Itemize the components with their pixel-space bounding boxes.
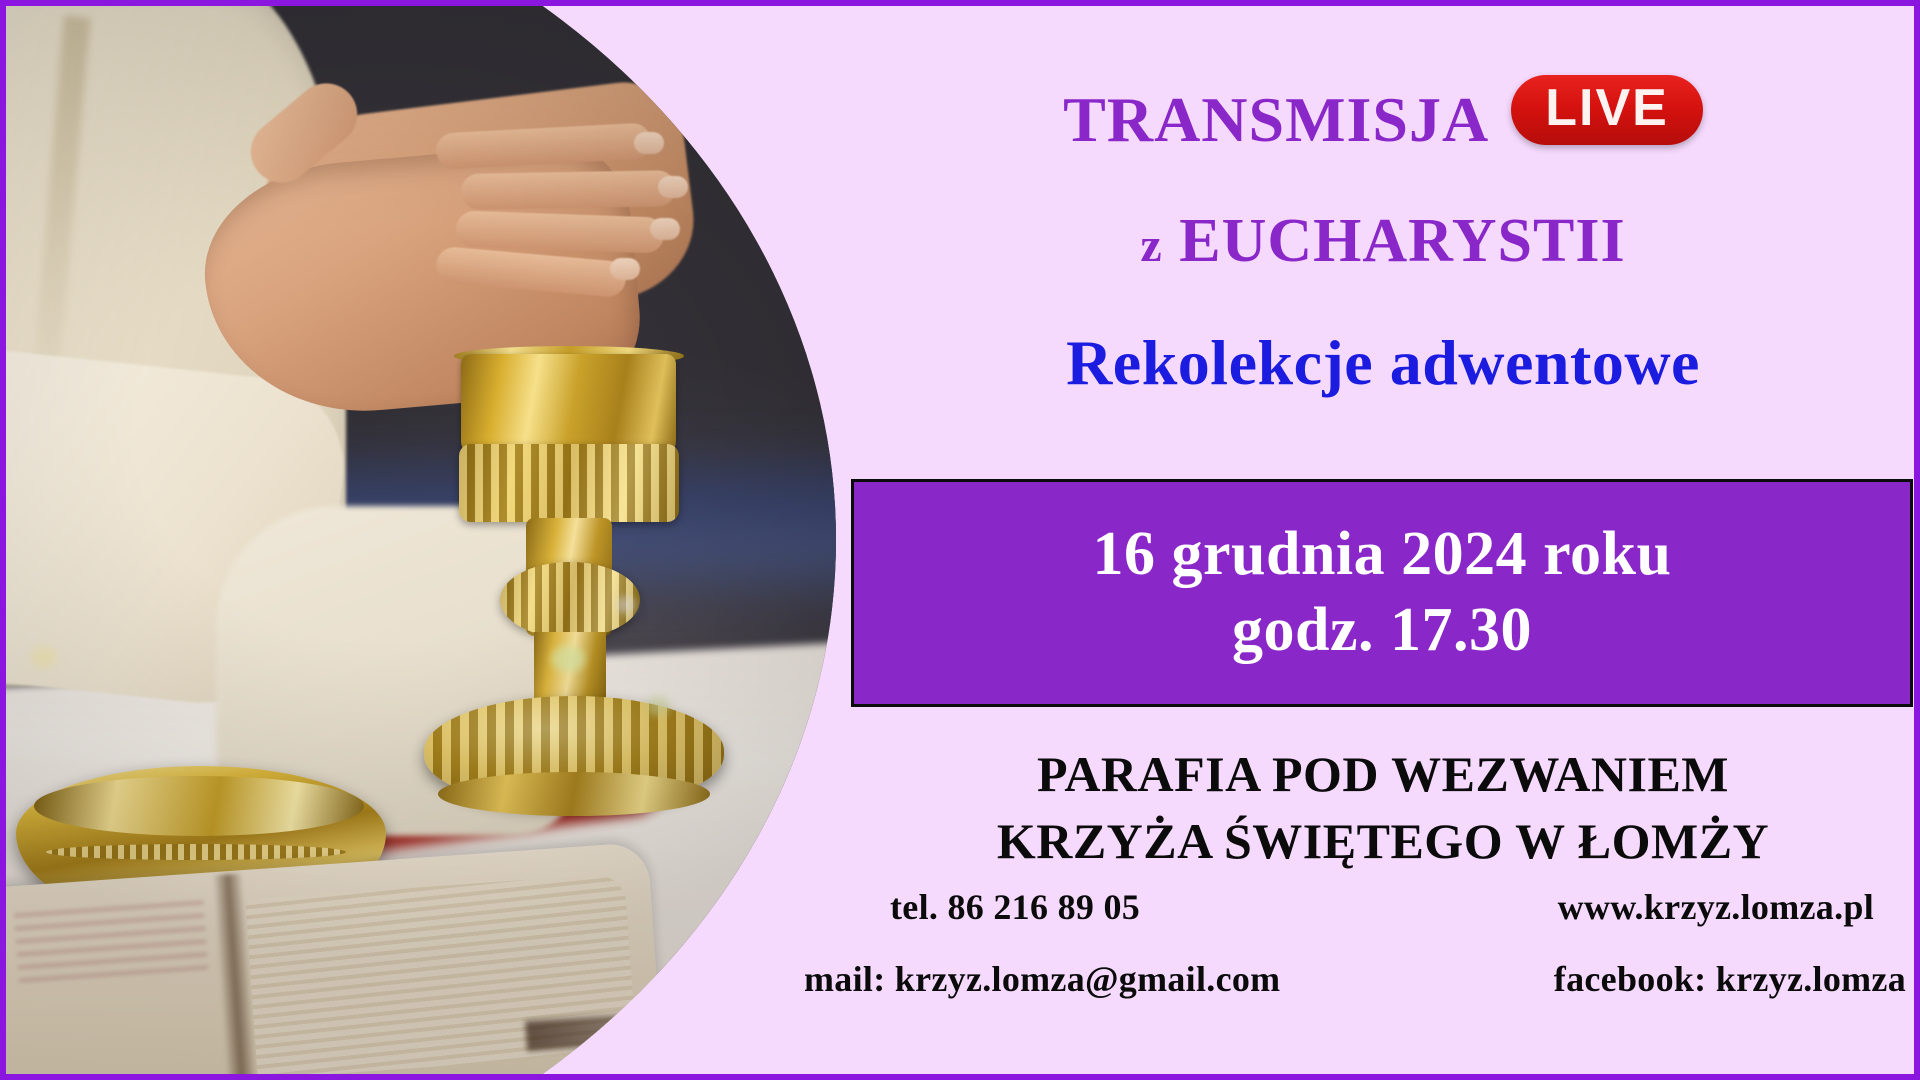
event-date: 16 grudnia 2024 roku	[1092, 517, 1671, 593]
fingernail	[610, 258, 640, 280]
contact-block: tel. 86 216 89 05 www.krzyz.lomza.pl mai…	[846, 886, 1920, 1030]
fingernail	[650, 218, 680, 240]
phone-number: tel. 86 216 89 05	[890, 886, 1140, 928]
parish-line-1: PARAFIA POD WEZWANIEM	[846, 741, 1920, 808]
parish-name: PARAFIA POD WEZWANIEM KRZYŻA ŚWIĘTEGO W …	[846, 741, 1920, 874]
poster-content: Transmisja LIVE z EUCHARYSTII Rekolekcje…	[846, 6, 1920, 1074]
subtitle-lead: z	[1140, 219, 1162, 272]
subtitle-main: EUCHARYSTII	[1179, 207, 1625, 275]
subtitle: z EUCHARYSTII	[846, 206, 1920, 277]
parish-line-2: KRZYŻA ŚWIĘTEGO W ŁOMŻY	[846, 808, 1920, 875]
bokeh-highlight	[551, 646, 585, 672]
live-badge: LIVE	[1511, 75, 1703, 146]
eucharist-photo	[6, 6, 866, 1074]
fingernail	[634, 132, 664, 154]
facebook-handle[interactable]: facebook: krzyz.lomza	[1554, 958, 1906, 1000]
page-title: Transmisja	[1063, 64, 1489, 156]
contact-row-2: mail: krzyz.lomza@gmail.com facebook: kr…	[846, 958, 1920, 1000]
paten-beaded-edge	[46, 844, 346, 860]
contact-row-1: tel. 86 216 89 05 www.krzyz.lomza.pl	[846, 886, 1920, 928]
bokeh-highlight	[616, 596, 636, 614]
email-address[interactable]: mail: krzyz.lomza@gmail.com	[804, 958, 1280, 1000]
live-broadcast-poster: Transmisja LIVE z EUCHARYSTII Rekolekcje…	[0, 0, 1920, 1080]
tagline: Rekolekcje adwentowe	[846, 326, 1920, 400]
bokeh-highlight	[646, 696, 670, 716]
finger-ring	[455, 210, 664, 253]
bokeh-highlight	[31, 646, 57, 668]
finger-middle	[461, 170, 677, 210]
paten-inner-surface	[34, 776, 364, 836]
date-time-box: 16 grudnia 2024 roku godz. 17.30	[851, 479, 1913, 707]
event-time: godz. 17.30	[1232, 593, 1532, 669]
chalice-ornament-band	[459, 444, 679, 522]
fingernail	[658, 176, 688, 198]
title-row: Transmisja LIVE	[846, 64, 1920, 156]
chalice-foot-ring	[438, 772, 710, 816]
missal-text-block	[14, 899, 208, 982]
website-link[interactable]: www.krzyz.lomza.pl	[1558, 886, 1874, 928]
